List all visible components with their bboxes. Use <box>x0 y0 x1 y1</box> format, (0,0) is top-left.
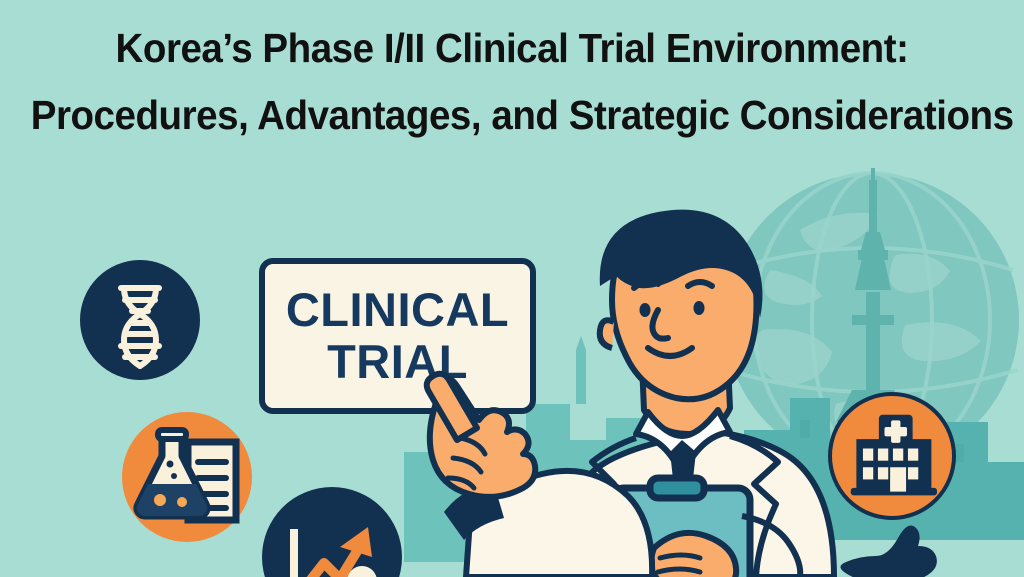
hospital-building-icon <box>832 396 952 516</box>
lab-flask-document-icon <box>122 412 252 542</box>
hospital-badge <box>828 392 956 520</box>
sign-line-2: TRIAL <box>327 337 468 387</box>
sign-line-1: CLINICAL <box>286 285 509 335</box>
lab-flask-badge <box>122 412 252 542</box>
dna-badge <box>80 260 200 380</box>
growth-chart-people-icon <box>262 487 402 577</box>
dna-helix-icon <box>80 260 200 380</box>
title-line-2: Procedures, Advantages, and Strategic Co… <box>31 95 994 136</box>
clinical-trial-sign: CLINICAL TRIAL <box>259 258 536 414</box>
page-title: Korea’s Phase I/II Clinical Trial Enviro… <box>0 28 1024 136</box>
poster-canvas: Korea’s Phase I/II Clinical Trial Enviro… <box>0 0 1024 577</box>
title-line-1: Korea’s Phase I/II Clinical Trial Enviro… <box>31 28 994 69</box>
growth-chart-badge <box>262 487 402 577</box>
